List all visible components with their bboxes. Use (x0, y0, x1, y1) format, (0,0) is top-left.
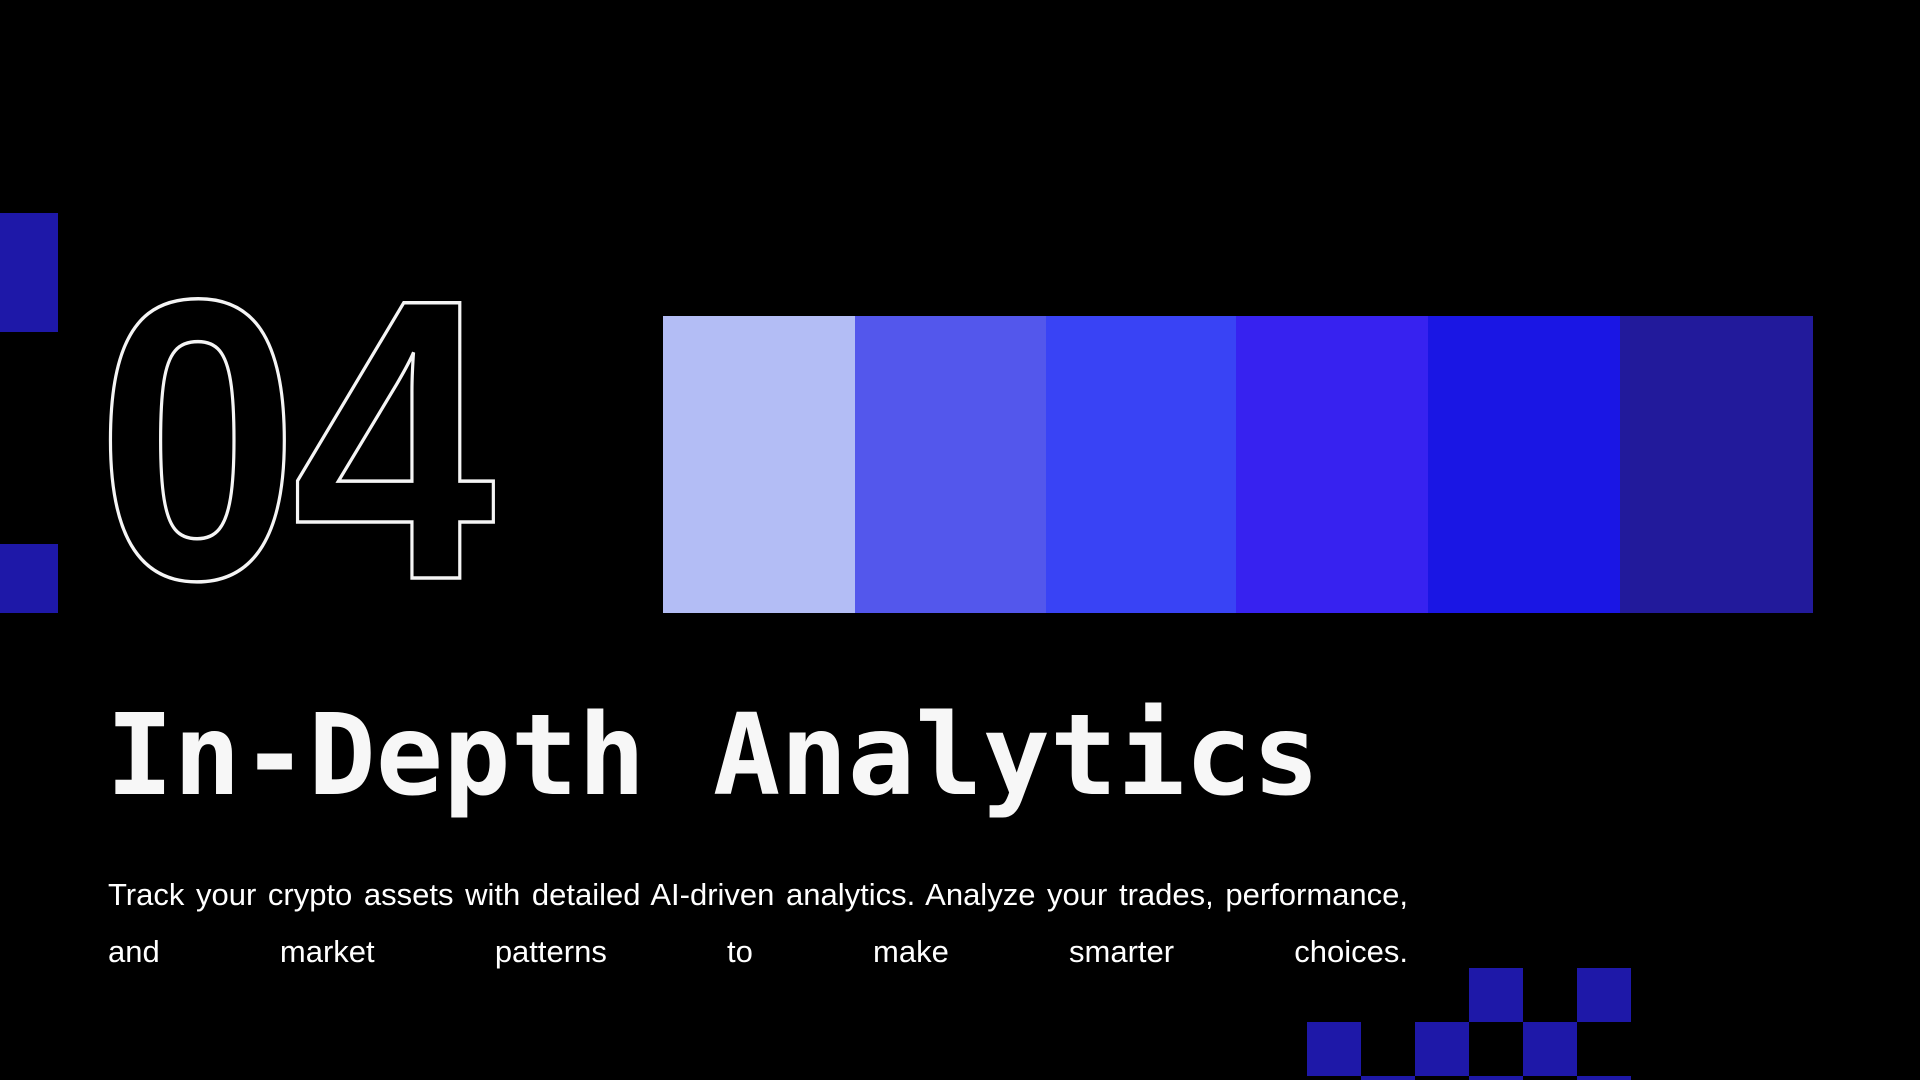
checkerboard-cell (1523, 1022, 1577, 1076)
checkerboard-cell (1361, 1076, 1415, 1080)
slide-title: In-Depth Analytics (106, 700, 1320, 812)
decorative-square-left-top (0, 213, 58, 332)
checkerboard-cell (1307, 1022, 1361, 1076)
slide-root: 04 In-Depth Analytics Track your crypto … (0, 0, 1920, 1080)
checkerboard-cell (1469, 968, 1523, 1022)
checkerboard-cell (1415, 1022, 1469, 1076)
gradient-band-6 (1620, 316, 1813, 613)
step-number-outline: 04 (96, 286, 596, 638)
gradient-band-3 (1046, 316, 1236, 613)
decorative-square-left-bottom (0, 544, 58, 613)
gradient-band-1 (663, 316, 855, 613)
step-number-glyphs: 04 (96, 286, 498, 638)
slide-description: Track your crypto assets with detailed A… (108, 866, 1408, 1037)
checkerboard-cell (1469, 1076, 1523, 1080)
checkerboard-cell (1577, 1076, 1631, 1080)
gradient-band-5 (1428, 316, 1620, 613)
gradient-band-2 (855, 316, 1046, 613)
decorative-checkerboard (1307, 968, 1631, 1080)
gradient-band-4 (1236, 316, 1428, 613)
checkerboard-cell (1577, 968, 1631, 1022)
step-number-svg: 04 (96, 286, 596, 638)
analytics-gradient-bar (663, 316, 1813, 613)
